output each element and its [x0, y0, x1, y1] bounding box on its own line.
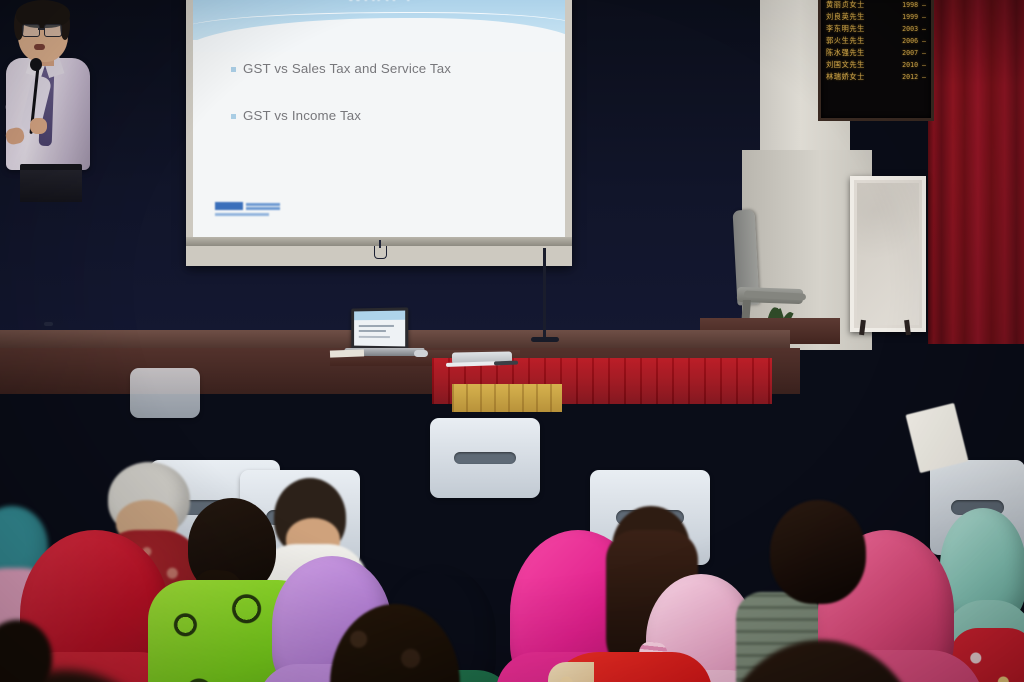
speaker-trousers: [20, 170, 82, 202]
honour-roll-plaque: 黄丽贞女士 1998 — 刘良英先生 1999 — 李东明先生 2003 — 郭…: [818, 0, 934, 121]
speaker-left-hand: [30, 118, 47, 134]
slide-bullet-1: GST vs Sales Tax and Service Tax: [231, 61, 451, 76]
plaque-name: 林瑞娇女士: [826, 72, 865, 82]
bullet-square-icon: [231, 114, 236, 119]
plaque-year: 1998 —: [902, 1, 926, 9]
plaque-year: 2003 —: [902, 25, 926, 33]
plaque-name: 李东明先生: [826, 24, 865, 34]
plaque-year: 2006 —: [902, 37, 926, 45]
projection-screen: WHAT I GST vs Sales Tax and Service Tax …: [193, 0, 565, 237]
plaque-row: 陈水强先生 2007 —: [826, 48, 926, 58]
whiteboard: [850, 176, 926, 332]
plaque-year: 2012 —: [902, 73, 926, 81]
plaque-name: 陈水强先生: [826, 48, 865, 58]
slide-bullet-2: GST vs Income Tax: [231, 108, 361, 123]
table-papers: [330, 349, 364, 357]
handheld-microphone-icon: [30, 58, 42, 71]
eyeglasses-bridge-icon: [38, 28, 44, 30]
speaker-mouth: [34, 44, 45, 50]
slide-bullet-text: GST vs Income Tax: [243, 108, 361, 123]
plaque-year: 2010 —: [902, 61, 926, 69]
plaque-row: 刘良英先生 1999 —: [826, 12, 926, 22]
plaque-row: 李东明先生 2003 —: [826, 24, 926, 34]
plaque-row: 郭火生先生 2006 —: [826, 36, 926, 46]
table-marker: [494, 361, 518, 366]
whiteboard-stand: [858, 320, 912, 336]
bullet-square-icon: [231, 67, 236, 72]
logo-url: [215, 213, 269, 216]
slide-title: WHAT I: [193, 0, 565, 6]
plaque-name: 刘良英先生: [826, 12, 865, 22]
logo-wordmark: [246, 203, 280, 210]
screen-pull-hook-icon: [374, 246, 387, 259]
held-papers: [905, 403, 968, 473]
laptop-screen: [351, 307, 408, 350]
audience-chair: [130, 368, 200, 418]
conference-photo: 黄丽贞女士 1998 — 刘良英先生 1999 — 李东明先生 2003 — 郭…: [0, 0, 1024, 682]
plaque-row: 刘国文先生 2010 —: [826, 60, 926, 70]
plaque-row: 林瑞娇女士 2012 —: [826, 72, 926, 82]
eyeglasses-right-lens-icon: [44, 24, 62, 37]
red-curtain: [928, 0, 1024, 344]
microphone-stand: [543, 248, 546, 340]
wall-fixture: [44, 322, 53, 326]
plaque-row: 黄丽贞女士 1998 —: [826, 0, 926, 10]
plaque-name: 郭火生先生: [826, 36, 865, 46]
plaque-name: 黄丽贞女士: [826, 0, 865, 10]
eyeglasses-left-lens-icon: [22, 24, 40, 37]
table-gold-panel: [452, 384, 562, 412]
microphone-stand-base: [531, 337, 559, 342]
computer-mouse: [414, 350, 428, 357]
logo-mark-icon: [215, 202, 243, 210]
plaque-name: 刘国文先生: [826, 60, 865, 70]
plaque-year: 1999 —: [902, 13, 926, 21]
slide-bullet-text: GST vs Sales Tax and Service Tax: [243, 61, 451, 76]
slide-logo: [215, 202, 280, 210]
plaque-year: 2007 —: [902, 49, 926, 57]
audience-chair: [430, 418, 540, 498]
